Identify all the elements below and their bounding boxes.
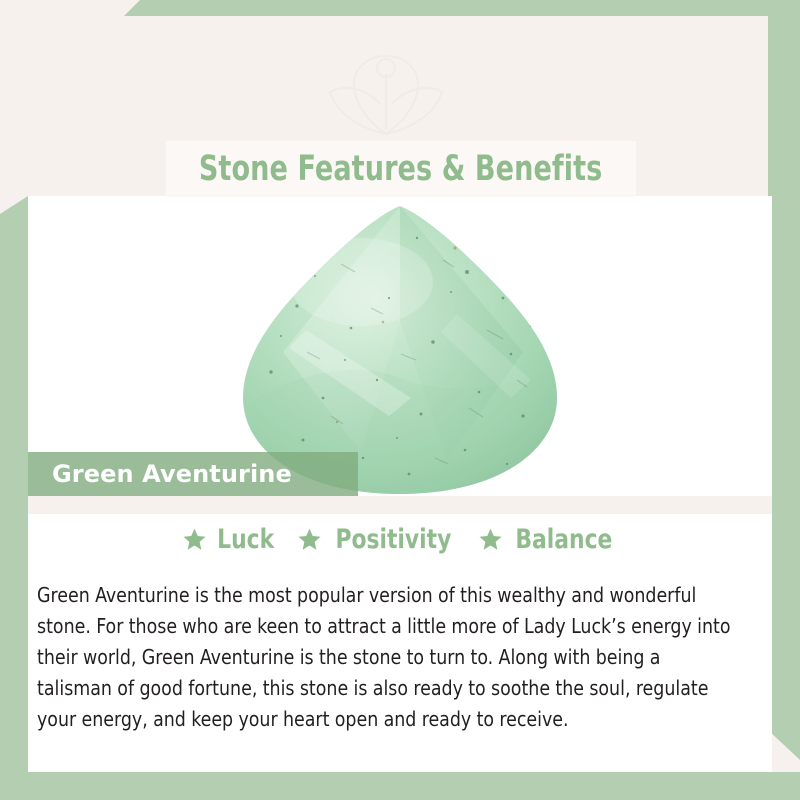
star-icon	[478, 527, 503, 552]
keyword-label: Luck	[217, 524, 274, 555]
keyword-label: Positivity	[336, 524, 452, 555]
description-paragraph: Green Aventurine is the most popular ver…	[37, 580, 732, 735]
star-icon	[182, 527, 207, 552]
lotus-watermark-icon	[296, 34, 476, 144]
section-seam	[28, 496, 772, 514]
keyword-list: Luck Positivity Balance	[28, 524, 772, 555]
keyword-item: Luck	[182, 524, 277, 555]
keyword-label: Balance	[516, 524, 613, 555]
decor-green-right-bar	[768, 0, 800, 760]
description-card: Luck Positivity Balance Green Aventurine…	[28, 514, 772, 772]
page-title: Stone Features & Benefits	[199, 152, 603, 187]
decor-green-left-bar	[0, 196, 28, 800]
stone-name-badge: Green Aventurine	[28, 452, 358, 496]
keyword-item: Balance	[478, 524, 618, 555]
title-plate: Stone Features & Benefits	[166, 141, 636, 197]
stone-photo-stage: Green Aventurine	[28, 196, 772, 496]
stone-name-label: Green Aventurine	[52, 460, 292, 488]
product-info-card: Stone Features & Benefits	[0, 0, 800, 800]
star-icon	[297, 527, 322, 552]
keyword-item: Positivity	[297, 524, 458, 555]
